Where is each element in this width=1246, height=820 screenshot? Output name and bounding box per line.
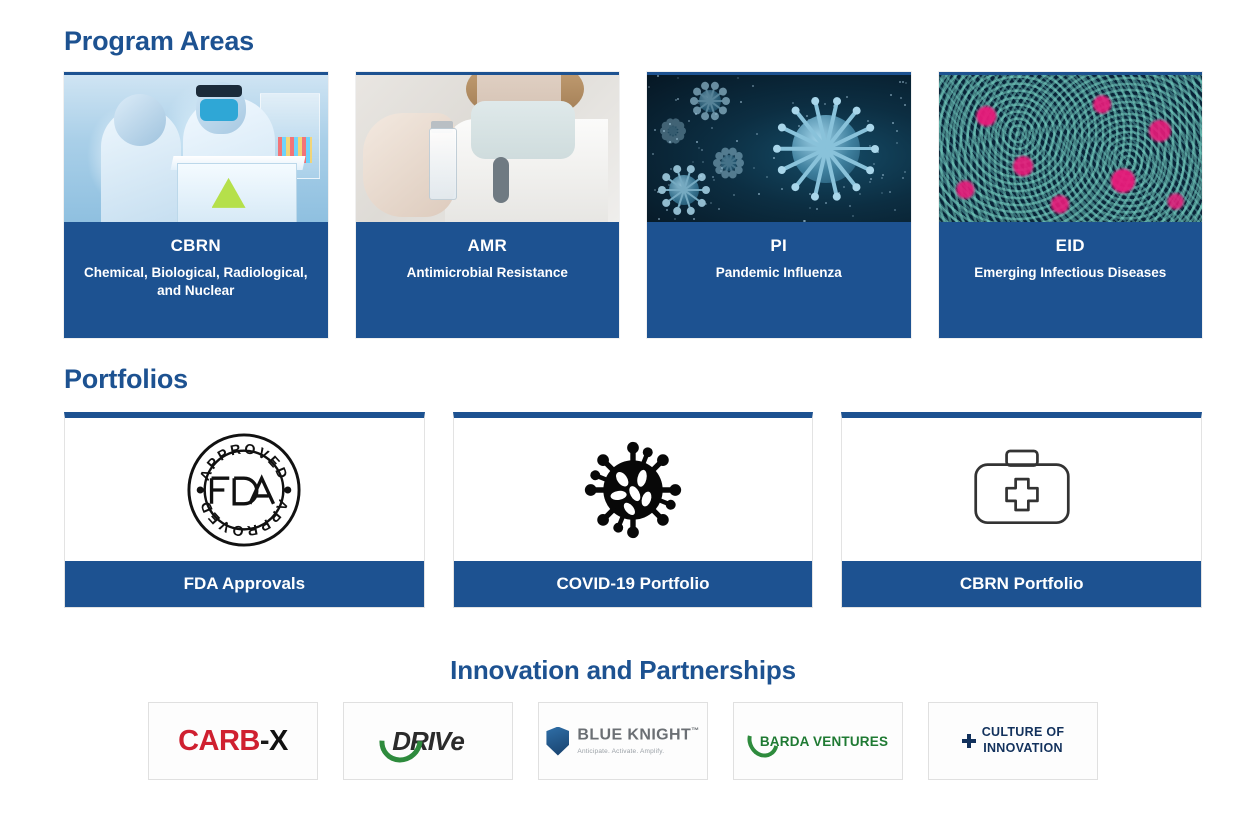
speck	[737, 77, 739, 79]
speck	[824, 103, 826, 105]
partners-row: CARB-X DRIVe BLUE KNIGHT™ Anticipate. Ac…	[0, 702, 1246, 782]
speck	[654, 129, 656, 131]
page-title-program-areas: Program Areas	[64, 26, 254, 57]
speck	[899, 81, 901, 83]
speck	[843, 186, 845, 188]
speck	[816, 208, 818, 210]
culture-of-innovation-logo: CULTURE OF INNOVATION	[962, 725, 1065, 756]
arc-icon	[741, 719, 784, 763]
speck	[657, 75, 659, 77]
speck	[904, 104, 906, 106]
plus-icon	[962, 734, 976, 748]
program-card-cbrn[interactable]: CBRN Chemical, Biological, Radiological,…	[64, 72, 328, 338]
speck	[712, 176, 714, 178]
blue-knight-text: BLUE KNIGHT™ Anticipate. Activate. Ampli…	[577, 727, 699, 755]
speck	[733, 194, 735, 196]
portfolio-label-covid-19: COVID-19 Portfolio	[454, 561, 813, 607]
speck	[758, 193, 760, 195]
speck	[867, 120, 869, 122]
speck	[675, 99, 677, 101]
speck	[896, 142, 898, 144]
program-full-cbrn: Chemical, Biological, Radiological, and …	[74, 264, 318, 300]
program-card-pi[interactable]: PI Pandemic Influenza	[647, 72, 911, 338]
speck	[693, 218, 695, 220]
drive-arc-icon	[371, 710, 432, 771]
speck	[902, 177, 904, 179]
program-areas-grid: CBRN Chemical, Biological, Radiological,…	[64, 72, 1202, 338]
program-full-eid: Emerging Infectious Diseases	[949, 264, 1193, 282]
program-abbr-amr: AMR	[366, 236, 610, 256]
carbx-logo-x: X	[269, 725, 288, 757]
program-full-amr: Antimicrobial Resistance	[366, 264, 610, 282]
speck	[698, 147, 700, 149]
speck	[882, 174, 884, 176]
speck	[674, 218, 676, 220]
speck	[846, 96, 848, 98]
program-abbr-eid: EID	[949, 236, 1193, 256]
portfolio-label-fda-approvals: FDA Approvals	[65, 561, 424, 607]
partner-card-blue-knight[interactable]: BLUE KNIGHT™ Anticipate. Activate. Ampli…	[538, 702, 708, 780]
speck	[904, 171, 906, 173]
medical-kit-icon	[842, 418, 1201, 561]
program-image-cbrn	[64, 72, 328, 222]
partner-card-barda-ventures[interactable]: BARDA VENTURES	[733, 702, 903, 780]
speck	[766, 176, 768, 178]
partner-card-carbx[interactable]: CARB-X	[148, 702, 318, 780]
speck	[692, 161, 694, 163]
speck	[873, 163, 875, 165]
portfolio-card-cbrn[interactable]: CBRN Portfolio	[841, 412, 1202, 608]
barda-ventures-logo: BARDA VENTURES	[748, 734, 888, 749]
speck	[710, 202, 712, 204]
program-card-body-eid: EID Emerging Infectious Diseases	[939, 222, 1203, 338]
coi-line-1: CULTURE OF	[982, 725, 1065, 739]
program-card-body-pi: PI Pandemic Influenza	[647, 222, 911, 338]
speck	[702, 161, 704, 163]
speck	[666, 209, 668, 211]
speck	[652, 153, 654, 155]
carbx-logo: CARB-X	[178, 725, 288, 758]
carbx-logo-carb: CARB	[178, 725, 260, 757]
program-abbr-pi: PI	[657, 236, 901, 256]
speck	[701, 149, 703, 151]
speck	[718, 208, 720, 210]
speck	[654, 189, 656, 191]
blue-knight-logo: BLUE KNIGHT™ Anticipate. Activate. Ampli…	[546, 727, 699, 756]
speck	[889, 191, 891, 193]
speck	[792, 102, 794, 104]
coi-line-2: INNOVATION	[983, 741, 1063, 755]
speck	[658, 218, 660, 220]
speck	[711, 127, 713, 129]
speck	[896, 130, 898, 132]
portfolios-grid: APPROVED APPROVED FDA Approvals	[64, 412, 1202, 608]
drive-logo-tail: e	[450, 726, 463, 757]
speck	[809, 207, 811, 209]
speck	[852, 215, 854, 217]
speck	[677, 98, 679, 100]
speck	[894, 209, 896, 211]
portfolio-card-fda-approvals[interactable]: APPROVED APPROVED FDA Approvals	[64, 412, 425, 608]
speck	[648, 86, 650, 88]
drive-logo: DRIVe	[392, 726, 464, 757]
speck	[890, 94, 892, 96]
speck	[804, 220, 806, 222]
speck	[756, 133, 758, 135]
program-image-amr	[356, 72, 620, 222]
barda-ventures-name: BARDA VENTURES	[760, 734, 888, 749]
speck	[900, 97, 902, 99]
partner-card-culture-of-innovation[interactable]: CULTURE OF INNOVATION	[928, 702, 1098, 780]
portfolio-card-covid-19[interactable]: COVID-19 Portfolio	[453, 412, 814, 608]
speck	[881, 177, 883, 179]
speck	[752, 85, 754, 87]
speck	[688, 120, 690, 122]
culture-of-innovation-text: CULTURE OF INNOVATION	[982, 725, 1065, 756]
program-card-body-cbrn: CBRN Chemical, Biological, Radiological,…	[64, 222, 328, 338]
speck	[905, 82, 907, 84]
portfolio-label-cbrn: CBRN Portfolio	[842, 561, 1201, 607]
program-image-eid	[939, 72, 1203, 222]
program-image-pi	[647, 72, 911, 222]
carbx-logo-dash: -	[260, 725, 269, 757]
speck	[713, 179, 715, 181]
speck	[849, 205, 851, 207]
speck	[825, 202, 827, 204]
speck	[881, 192, 883, 194]
blue-knight-name: BLUE KNIGHT™	[577, 727, 699, 743]
coronavirus-icon	[454, 418, 813, 561]
speck	[781, 188, 783, 190]
speck	[892, 122, 894, 124]
program-abbr-cbrn: CBRN	[74, 236, 318, 256]
page-title-portfolios: Portfolios	[64, 364, 188, 395]
trademark-icon: ™	[691, 726, 699, 735]
shield-icon	[546, 727, 569, 756]
blue-knight-tagline: Anticipate. Activate. Amplify.	[577, 748, 699, 755]
program-full-pi: Pandemic Influenza	[657, 264, 901, 282]
speck	[859, 193, 861, 195]
speck	[696, 141, 698, 143]
program-card-body-amr: AMR Antimicrobial Resistance	[356, 222, 620, 338]
partner-card-drive[interactable]: DRIVe	[343, 702, 513, 780]
speck	[677, 77, 679, 79]
speck	[902, 81, 904, 83]
speck	[870, 178, 872, 180]
program-card-amr[interactable]: AMR Antimicrobial Resistance	[356, 72, 620, 338]
speck	[869, 181, 871, 183]
page-root: Program Areas CBRN Chemical, Biological,…	[0, 0, 1246, 820]
program-card-eid[interactable]: EID Emerging Infectious Diseases	[939, 72, 1203, 338]
speck	[806, 115, 808, 117]
fda-approved-seal-icon: APPROVED APPROVED	[65, 418, 424, 561]
speck	[740, 101, 742, 103]
speck	[773, 157, 775, 159]
speck	[753, 167, 755, 169]
page-title-innovation-partnerships: Innovation and Partnerships	[0, 655, 1246, 686]
speck	[736, 140, 738, 142]
